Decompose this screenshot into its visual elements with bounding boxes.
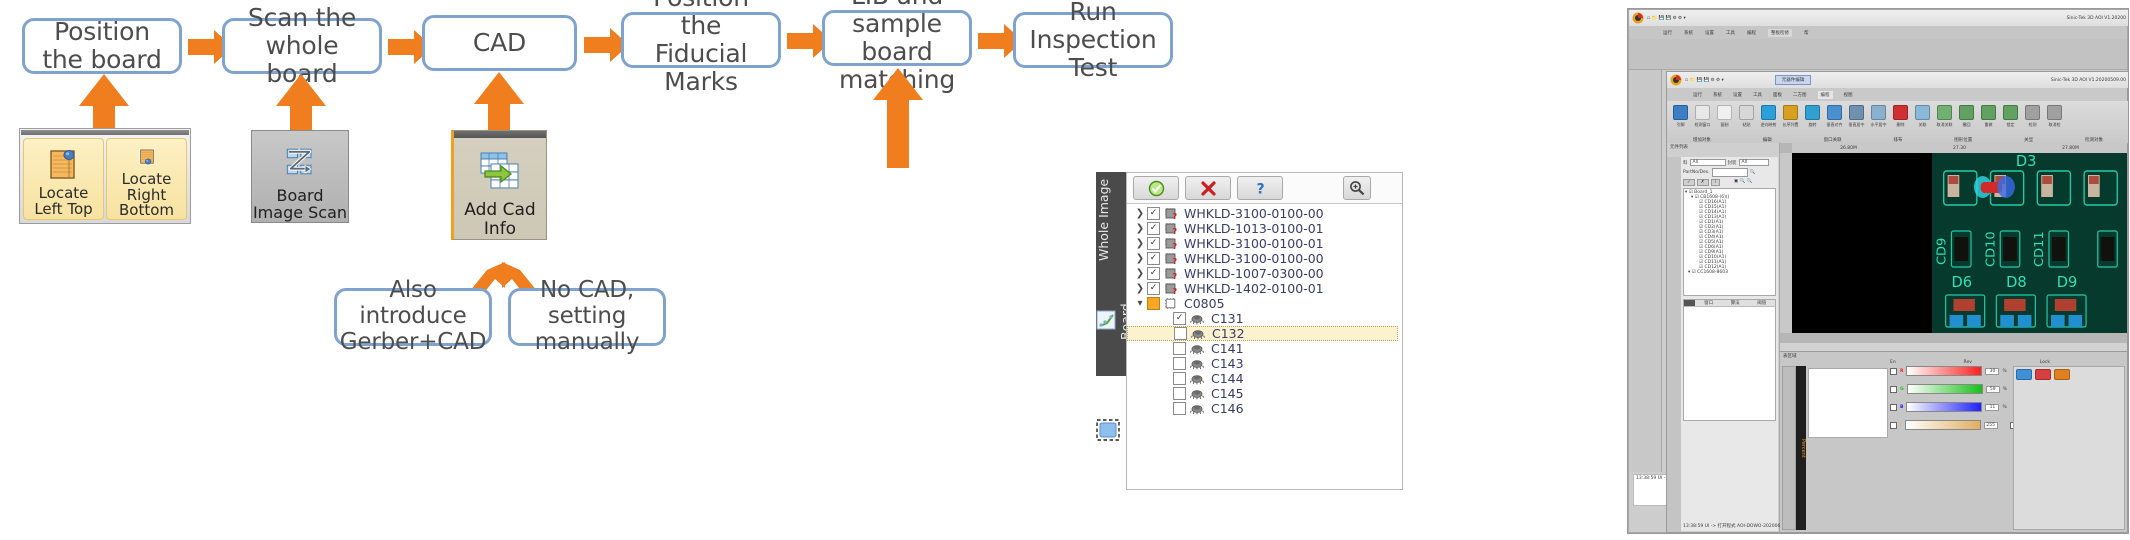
app-logo-icon bbox=[1670, 74, 1682, 86]
ribbon-button[interactable]: 关联 bbox=[1912, 103, 1933, 128]
ribbon-button-label: 引脚 bbox=[1677, 122, 1685, 128]
chip-question-icon: ? bbox=[1164, 237, 1180, 250]
tree-row-checkbox[interactable] bbox=[1173, 402, 1186, 415]
tree-row-checkbox[interactable]: ✓ bbox=[1147, 237, 1160, 250]
channel-name: G bbox=[1900, 387, 1904, 392]
pcb-label: D3 bbox=[2016, 153, 2037, 170]
channel-enable-checkbox[interactable] bbox=[1890, 368, 1897, 375]
button-locate-right-bottom[interactable]: Locate Right Bottom bbox=[106, 138, 187, 220]
ribbon-button[interactable]: 取消关联 bbox=[1934, 103, 1955, 128]
menu-item[interactable]: 系统 bbox=[1684, 30, 1693, 36]
ribbon-button-label: 垂直居中 bbox=[1849, 122, 1865, 128]
menu-item[interactable]: 帮 bbox=[1804, 30, 1809, 36]
component-icon bbox=[1190, 313, 1207, 325]
flow-step-label: CAD bbox=[473, 29, 526, 57]
channel-slider[interactable] bbox=[1906, 402, 1982, 412]
flow-step-fiducial[interactable]: Position the Fiducial Marks bbox=[621, 12, 781, 68]
channel-value[interactable]: 30 bbox=[1985, 368, 1999, 375]
ribbon-button[interactable]: 长序列置 bbox=[1780, 103, 1801, 128]
ribbon-button[interactable]: 粘贴 bbox=[1736, 103, 1757, 128]
table-import-icon bbox=[477, 148, 523, 194]
ribbon-button-icon bbox=[1761, 105, 1776, 120]
front-window[interactable]: ▫ 📁 💾 💾 ⚙ ⚙ ▾ 元器件编辑 Sinic-Tek 3D AOI V1.… bbox=[1666, 71, 2128, 533]
tree-row-checkbox[interactable] bbox=[1173, 387, 1186, 400]
chip-question-icon: ? bbox=[1164, 282, 1180, 295]
channel-panel: 表区域 Percent R30%G59%B11%I255 En Rev Lock bbox=[1780, 351, 2127, 532]
ribbon-button-label: 检测 bbox=[2029, 122, 2037, 128]
chip-question-icon: ? bbox=[1164, 207, 1177, 220]
tree-row[interactable]: C143 bbox=[1127, 356, 1402, 371]
tree-row[interactable]: C132 bbox=[1127, 326, 1398, 341]
tree-row-checkbox[interactable]: ✓ bbox=[1147, 207, 1160, 220]
pcb-graphics: D3 CD9 CD10 CD11 D6 D8 bbox=[1932, 153, 2127, 333]
chip-question-icon: ? bbox=[1164, 252, 1180, 265]
flow-step-position-board[interactable]: Position the board bbox=[22, 18, 182, 74]
tree-row[interactable]: ✓ C131 bbox=[1127, 311, 1402, 326]
ribbon-button[interactable]: 旋转 bbox=[1802, 103, 1823, 128]
svg-text:D6: D6 bbox=[1952, 274, 1973, 291]
plot-area bbox=[1808, 368, 1888, 438]
ribbon-button-label: 重做 bbox=[1985, 122, 1993, 128]
tab-whole-image[interactable]: Whole Image bbox=[1096, 172, 1111, 268]
component-icon bbox=[1190, 358, 1207, 370]
component-icon bbox=[1191, 328, 1208, 340]
ribbon-button-icon bbox=[2003, 105, 2018, 120]
tree-toolbar: ? bbox=[1127, 173, 1402, 204]
left-table[interactable]: 窗口 算法 阈值 bbox=[1683, 299, 1776, 421]
ribbon-button[interactable]: 取消检 bbox=[2044, 103, 2065, 128]
tree-row[interactable]: ❯✓ ?WHKLD-3100-0100-00 bbox=[1127, 206, 1402, 221]
menu-item[interactable]: 运行 bbox=[1663, 30, 1672, 36]
selection-box-icon bbox=[1096, 420, 1120, 442]
ribbon-button-icon bbox=[2047, 105, 2062, 120]
tree-vertical-tabs: Whole Image Board Component bbox=[1096, 172, 1126, 490]
chevron-right-icon[interactable]: ❯ bbox=[1133, 283, 1147, 294]
chevron-down-icon[interactable]: ▾ bbox=[1133, 298, 1147, 309]
tree-row-checkbox[interactable]: ✓ bbox=[1147, 282, 1160, 295]
tree-row-label: WHKLD-3100-0100-01 bbox=[1184, 236, 1324, 251]
ribbon-button[interactable]: 检测 bbox=[2022, 103, 2043, 128]
tree-row-checkbox[interactable]: ✓ bbox=[1147, 222, 1160, 235]
button-board-image-scan[interactable]: Board Image Scan bbox=[251, 130, 349, 223]
tab-label: Whole Image bbox=[1096, 179, 1111, 261]
ribbon-button-label: 复制 bbox=[1721, 122, 1729, 128]
tree-row-label: C0805 bbox=[1184, 296, 1225, 311]
ribbon-button[interactable]: 逆向映射 bbox=[1758, 103, 1779, 128]
flow-step-label: Position the board bbox=[42, 18, 161, 74]
svg-text:CD10: CD10 bbox=[1984, 231, 1999, 267]
front-window-ribbon: 引脚检测窗口复制粘贴逆向映射长序列置旋转垂直对齐垂直居中水平居中删除关联取消关联… bbox=[1667, 101, 2129, 144]
channel-enable-checkbox[interactable] bbox=[1890, 404, 1897, 411]
svg-text:CD11: CD11 bbox=[2032, 231, 2047, 267]
front-left-panel: 元件列表 料 All 封装 All PartNo/Des. 🔍 ✓ ✗ i bbox=[1667, 143, 1780, 532]
magnifier-plus-icon bbox=[1349, 180, 1365, 196]
ribbon-button-icon bbox=[1827, 105, 1842, 120]
flow-step-scan-board[interactable]: Scan the whole board bbox=[222, 18, 382, 74]
chip-question-icon: ? bbox=[1164, 267, 1180, 280]
back-window-menubar[interactable]: 运行 系统 设置 工具 编程 整板检修 帮 bbox=[1629, 26, 2127, 39]
ribbon-button-icon bbox=[1981, 105, 1996, 120]
ruler-tick: 27.80M bbox=[2062, 146, 2079, 151]
tree-row-checkbox[interactable]: ✓ bbox=[1147, 252, 1160, 265]
partno-input[interactable] bbox=[1712, 168, 1748, 177]
front-window-titlebar: ▫ 📁 💾 💾 ⚙ ⚙ ▾ 元器件编辑 Sinic-Tek 3D AOI V1.… bbox=[1667, 72, 2129, 88]
channel-slider[interactable] bbox=[1906, 366, 1982, 376]
image-viewport[interactable]: 26.80M 27.30 27.80M bbox=[1780, 143, 2127, 343]
svg-text:D9: D9 bbox=[2057, 274, 2078, 291]
ribbon-button-label: 检测窗口 bbox=[1695, 122, 1711, 128]
ribbon-button[interactable]: 引脚 bbox=[1670, 103, 1691, 128]
filter-label: 料 bbox=[1683, 160, 1688, 166]
channel-unit: % bbox=[2002, 405, 2006, 410]
chip-outline-icon bbox=[1164, 297, 1177, 310]
tool-red-button[interactable] bbox=[2035, 369, 2051, 380]
svg-text:?: ? bbox=[1173, 212, 1178, 220]
ribbon-button-icon bbox=[1673, 105, 1688, 120]
tree-info-icon[interactable]: i bbox=[1711, 179, 1720, 186]
svg-text:?: ? bbox=[1173, 257, 1178, 265]
blue-question-icon: ? bbox=[1252, 180, 1269, 197]
button-label: Board Image Scan bbox=[253, 187, 347, 222]
ribbon-button-label: 逆向映射 bbox=[1761, 122, 1777, 128]
channel-value[interactable]: 11 bbox=[1985, 404, 1999, 411]
tree-row[interactable]: ❯✓ ?WHKLD-3100-0100-00 bbox=[1127, 251, 1402, 266]
back-window-ribbon bbox=[1629, 39, 2127, 70]
red-x-icon bbox=[1200, 180, 1217, 197]
note-gerber-cad[interactable]: Also introduce Gerber+CAD bbox=[334, 288, 492, 346]
tree-row-checkbox[interactable]: ✓ bbox=[1173, 312, 1186, 325]
channel-header: En bbox=[1890, 360, 1896, 365]
tree-row-checkbox[interactable] bbox=[1173, 357, 1186, 370]
component-tree-rows: ❯✓ ?WHKLD-3100-0100-00❯✓ ?WHKLD-1013-010… bbox=[1127, 204, 1402, 416]
channel-slider[interactable] bbox=[1907, 384, 1983, 394]
menu-item[interactable]: 面板 bbox=[1773, 92, 1782, 98]
tree-row[interactable]: ❯✓ ?WHKLD-3100-0100-01 bbox=[1127, 236, 1402, 251]
component-icon bbox=[1191, 328, 1205, 340]
filter-label: 封装 bbox=[1728, 160, 1737, 166]
reject-button[interactable] bbox=[1185, 176, 1231, 200]
menu-item-active[interactable]: 整板检修 bbox=[1768, 29, 1792, 37]
help-button[interactable]: ? bbox=[1237, 176, 1283, 200]
tool-blue-button[interactable] bbox=[2016, 369, 2032, 380]
percent-label: Percent bbox=[1800, 439, 1806, 458]
chevron-right-icon[interactable]: ❯ bbox=[1133, 253, 1147, 264]
chevron-right-icon[interactable]: ❯ bbox=[1133, 238, 1147, 249]
component-icon bbox=[1190, 343, 1204, 355]
table-header: 窗口 bbox=[1695, 300, 1722, 306]
ribbon-button-label: 取消检 bbox=[2049, 122, 2061, 128]
tree-row-label: WHKLD-1007-0300-00 bbox=[1184, 266, 1324, 281]
component-icon bbox=[1190, 343, 1207, 355]
button-label: Add Cad Info bbox=[464, 201, 535, 239]
green-check-circle-icon bbox=[1148, 180, 1165, 197]
ribbon-button-label: 长序列置 bbox=[1783, 122, 1799, 128]
ribbon-button-label: 水平居中 bbox=[1871, 122, 1887, 128]
back-window-left-dock bbox=[1629, 70, 1662, 472]
ribbon-button[interactable]: 复制 bbox=[1714, 103, 1735, 128]
chip-question-icon: ? bbox=[1164, 252, 1177, 265]
svg-text:?: ? bbox=[1173, 287, 1178, 295]
ribbon-button-label: 撤回 bbox=[1963, 122, 1971, 128]
ribbon-button[interactable]: 垂直居中 bbox=[1846, 103, 1867, 128]
note-no-cad[interactable]: No CAD, setting manually bbox=[508, 288, 666, 346]
ribbon-button-label: 关联 bbox=[1919, 122, 1927, 128]
flow-step-lib-match[interactable]: LIB and sample board matching bbox=[822, 10, 972, 66]
ribbon-button-row: 引脚检测窗口复制粘贴逆向映射长序列置旋转垂直对齐垂直居中水平居中删除关联取消关联… bbox=[1667, 101, 2129, 130]
ribbon-button-icon bbox=[1849, 105, 1864, 120]
note-label: Also introduce Gerber+CAD bbox=[340, 278, 486, 355]
tree-row-label: C144 bbox=[1211, 371, 1244, 386]
menu-item[interactable]: 编程 bbox=[1747, 30, 1756, 36]
tree-row[interactable]: ❯✓ ?WHKLD-1007-0300-00 bbox=[1127, 266, 1402, 281]
component-icon bbox=[1190, 388, 1207, 400]
tree-row-checkbox[interactable] bbox=[1174, 327, 1187, 340]
tree-row-label: WHKLD-3100-0100-00 bbox=[1184, 206, 1324, 221]
ribbon-button-label: 锁定 bbox=[2007, 122, 2015, 128]
tree-item-list: ☑ CD16(A1)☑ CD15(A1)☑ CD14(A1)☑ CD13(A1)… bbox=[1685, 200, 1774, 270]
chevron-right-icon[interactable]: ❯ bbox=[1133, 268, 1147, 279]
ribbon-button-icon bbox=[2025, 105, 2040, 120]
channel-slider[interactable] bbox=[1905, 420, 1981, 430]
ribbon-top-bar bbox=[454, 131, 546, 138]
menu-item-active[interactable]: 编程 bbox=[1818, 91, 1833, 99]
menu-item[interactable]: 二方图 bbox=[1793, 92, 1807, 98]
tree-row-label: C146 bbox=[1211, 401, 1244, 416]
status-log: 13:38:59 UI -> 打开程式 AOI-DOWO-20200618 bbox=[1683, 523, 1786, 529]
menu-item[interactable]: 系统 bbox=[1713, 92, 1722, 98]
button-locate-left-top[interactable]: Locate Left Top bbox=[23, 138, 104, 220]
aoi-application-screenshot[interactable]: ▫ 📁 💾 💾 ⚙ ⚙ ▾ Sinic-Tek 3D AOI V1.20200 … bbox=[1627, 8, 2129, 534]
channel-header: Lock bbox=[2040, 360, 2050, 365]
left-tree-toolbar: ✓ ✗ i ▣ 🔍 🔍 bbox=[1681, 179, 1778, 188]
ribbon-button-icon bbox=[1871, 105, 1886, 120]
ribbon-button[interactable]: 重做 bbox=[1978, 103, 1999, 128]
svg-text:CD9: CD9 bbox=[1935, 238, 1950, 265]
menu-item[interactable]: 设置 bbox=[1733, 92, 1742, 98]
tree-row-label: C143 bbox=[1211, 356, 1244, 371]
tree-row[interactable]: C141 bbox=[1127, 341, 1402, 356]
left-panel-title: 元件列表 bbox=[1667, 143, 1779, 151]
chip-question-icon: ? bbox=[1164, 207, 1180, 220]
tree-row[interactable]: C144 bbox=[1127, 371, 1402, 386]
ribbon-button[interactable]: 垂直对齐 bbox=[1824, 103, 1845, 128]
filter-select-1[interactable]: All bbox=[1690, 159, 1726, 166]
component-icon bbox=[1190, 403, 1204, 415]
ribbon-button-label: 删除 bbox=[1897, 122, 1905, 128]
chevron-right-icon[interactable]: ❯ bbox=[1133, 208, 1147, 219]
tree-row-label: WHKLD-1013-0100-01 bbox=[1184, 221, 1324, 236]
note-label: No CAD, setting manually bbox=[517, 278, 657, 355]
tree-row[interactable]: ❯✓ ?WHKLD-1402-0100-01 bbox=[1127, 281, 1402, 296]
component-icon bbox=[1190, 373, 1204, 385]
channel-vtabs[interactable] bbox=[1782, 366, 1796, 530]
chip-question-icon: ? bbox=[1164, 222, 1177, 235]
channel-unit: % bbox=[2003, 387, 2007, 392]
left-panel-body: 料 All 封装 All PartNo/Des. 🔍 ✓ ✗ i ▣ 🔍 🔍 bbox=[1681, 157, 1778, 531]
ribbon-button-icon bbox=[1783, 105, 1798, 120]
table-header-corner bbox=[1684, 300, 1695, 306]
tree-row-label: WHKLD-1402-0100-01 bbox=[1184, 281, 1324, 296]
button-label: Locate Right Bottom bbox=[107, 172, 186, 219]
menu-item[interactable]: 运行 bbox=[1693, 92, 1702, 98]
table-header: 算法 bbox=[1722, 300, 1749, 306]
ribbon-button-icon bbox=[1717, 105, 1732, 120]
tree-group2[interactable]: ▾ ☑ CC1608-8603 bbox=[1685, 270, 1774, 275]
channel-value[interactable]: 59 bbox=[1986, 386, 2000, 393]
tree-row-label: WHKLD-3100-0100-00 bbox=[1184, 251, 1324, 266]
left-tree[interactable]: ▾ ☑ Board_1 ▾ ☑ CB1608-(6)() ☑ CD16(A1)☑… bbox=[1683, 188, 1776, 296]
tree-row-checkbox[interactable]: ✓ bbox=[1147, 267, 1160, 280]
ribbon-button-label: 旋转 bbox=[1809, 122, 1817, 128]
channel-enable-checkbox[interactable] bbox=[1890, 422, 1897, 429]
menu-item[interactable]: 工具 bbox=[1753, 92, 1762, 98]
chip-question-icon: ? bbox=[1164, 237, 1177, 250]
ruler-tick: 27.30 bbox=[1953, 146, 1966, 151]
ribbon-button-label: 垂直对齐 bbox=[1827, 122, 1843, 128]
component-icon bbox=[1190, 313, 1204, 325]
button-add-cad-info[interactable]: Add Cad Info bbox=[451, 130, 547, 240]
viewport-black-region bbox=[1792, 153, 1932, 333]
ribbon-button-label: 粘贴 bbox=[1743, 122, 1751, 128]
tree-row-label: C141 bbox=[1211, 341, 1244, 356]
ribbon-button-icon bbox=[1937, 105, 1952, 120]
channel-value[interactable]: 255 bbox=[1984, 422, 1998, 429]
chip-outline-icon bbox=[1164, 297, 1180, 310]
ribbon-locate-panel: Locate Left Top Locate Right Bottom bbox=[19, 128, 191, 224]
back-window-titlebar: ▫ 📁 💾 💾 ⚙ ⚙ ▾ Sinic-Tek 3D AOI V1.20200 bbox=[1629, 10, 2129, 26]
partno-label: PartNo/Des. bbox=[1683, 170, 1710, 175]
up-arrow-lib-match bbox=[872, 68, 924, 168]
svg-text:?: ? bbox=[1173, 227, 1178, 235]
ribbon-button-icon bbox=[1739, 105, 1754, 120]
tree-row[interactable]: ▾ C0805 bbox=[1127, 296, 1402, 311]
tool-orange-button[interactable] bbox=[2054, 369, 2070, 380]
chip-question-icon: ? bbox=[1164, 267, 1177, 280]
channel-header: Rev bbox=[1964, 360, 1972, 365]
filter-select-2[interactable]: All bbox=[1739, 159, 1769, 166]
component-icon bbox=[1190, 358, 1204, 370]
table-header: 阈值 bbox=[1748, 300, 1775, 306]
svg-text:?: ? bbox=[1173, 272, 1178, 280]
ribbon-button-icon bbox=[1893, 105, 1908, 120]
channel-name: I bbox=[1900, 423, 1902, 428]
flow-step-label: Position the Fiducial Marks bbox=[630, 0, 772, 96]
component-tree-panel: ? ❯✓ ?WHKLD-3100-0100-00❯✓ ?WHKLD-1013-0… bbox=[1126, 172, 1403, 490]
component-icon bbox=[1190, 388, 1204, 400]
accept-button[interactable] bbox=[1133, 176, 1179, 200]
app-logo-icon bbox=[1632, 12, 1644, 24]
front-window-title: Sinic-Tek 3D AOI V1.20200509.00 bbox=[2051, 78, 2126, 83]
tree-row-label: C131 bbox=[1211, 311, 1244, 326]
back-window-title: Sinic-Tek 3D AOI V1.20200 bbox=[2067, 16, 2126, 21]
ribbon-button[interactable]: 检测窗口 bbox=[1692, 103, 1713, 128]
component-icon bbox=[1190, 403, 1207, 415]
right-tool-strip[interactable] bbox=[2013, 366, 2125, 530]
channel-name: B bbox=[1900, 405, 1903, 410]
button-label: Locate Left Top bbox=[34, 186, 92, 218]
tree-row-label: C132 bbox=[1212, 326, 1245, 341]
ribbon-button-icon bbox=[1695, 105, 1710, 120]
tree-extra-icons[interactable]: ▣ 🔍 🔍 bbox=[1734, 179, 1752, 186]
svg-text:?: ? bbox=[1256, 181, 1264, 197]
ruler-tick: 26.80M bbox=[1840, 146, 1857, 151]
svg-text:?: ? bbox=[1173, 242, 1178, 250]
channel-panel-title: 表区域 bbox=[1780, 352, 2127, 360]
front-window-toolbar-icons: ▫ 📁 💾 💾 ⚙ ⚙ ▾ bbox=[1685, 78, 1724, 83]
chip-question-icon: ? bbox=[1164, 282, 1177, 295]
scatter-check-icon bbox=[1096, 310, 1116, 330]
zoom-button[interactable] bbox=[1343, 176, 1371, 200]
ribbon-button-label: 取消关联 bbox=[1937, 122, 1953, 128]
chevron-right-icon[interactable]: ❯ bbox=[1133, 223, 1147, 234]
channel-header-row: En Rev Lock bbox=[1890, 360, 2050, 365]
channel-name: R bbox=[1900, 369, 1903, 374]
flow-step-run-test[interactable]: Run Inspection Test bbox=[1013, 12, 1173, 68]
menu-item[interactable]: 视图 bbox=[1844, 92, 1853, 98]
tree-reject-icon[interactable]: ✗ bbox=[1697, 179, 1709, 186]
ribbon-button-icon bbox=[1805, 105, 1820, 120]
tree-accept-icon[interactable]: ✓ bbox=[1683, 179, 1695, 186]
left-vtab-strip[interactable] bbox=[1667, 157, 1681, 532]
ribbon-button[interactable]: 撤回 bbox=[1956, 103, 1977, 128]
pcb-image: D3 CD9 CD10 CD11 D6 D8 bbox=[1932, 153, 2127, 333]
tree-row[interactable]: C146 bbox=[1127, 401, 1402, 416]
note-pin-icon bbox=[47, 147, 81, 181]
channel-enable-checkbox[interactable] bbox=[1890, 386, 1897, 393]
ribbon-button-icon bbox=[1915, 105, 1930, 120]
zigzag-scan-icon bbox=[280, 145, 320, 179]
tree-row-checkbox[interactable] bbox=[1173, 372, 1186, 385]
front-window-menubar[interactable]: 运行 系统 设置 工具 面板 二方图 编程 视图 bbox=[1667, 88, 2127, 101]
flow-step-label: Run Inspection Test bbox=[1022, 0, 1164, 82]
front-window-active-tab[interactable]: 元器件编辑 bbox=[1775, 75, 1812, 85]
ribbon-button[interactable]: 删除 bbox=[1890, 103, 1911, 128]
note-pin-icon bbox=[130, 147, 164, 167]
component-icon bbox=[1190, 373, 1207, 385]
tree-row[interactable]: C145 bbox=[1127, 386, 1402, 401]
tree-row[interactable]: ❯✓ ?WHKLD-1013-0100-01 bbox=[1127, 221, 1402, 236]
tree-row-label: C145 bbox=[1211, 386, 1244, 401]
tree-row-checkbox[interactable] bbox=[1147, 297, 1160, 310]
back-window-toolbar-icons: ▫ 📁 💾 💾 ⚙ ⚙ ▾ bbox=[1647, 16, 1686, 21]
ribbon-button[interactable]: 锁定 bbox=[2000, 103, 2021, 128]
flow-step-cad[interactable]: CAD bbox=[422, 15, 577, 71]
svg-text:D8: D8 bbox=[2006, 274, 2027, 291]
chip-question-icon: ? bbox=[1164, 222, 1180, 235]
percent-strip: Percent bbox=[1796, 366, 1806, 530]
ribbon-button[interactable]: 水平居中 bbox=[1868, 103, 1889, 128]
tree-row-checkbox[interactable] bbox=[1173, 342, 1186, 355]
menu-item[interactable]: 工具 bbox=[1726, 30, 1735, 36]
partno-search-icon[interactable]: 🔍 bbox=[1750, 170, 1756, 175]
channel-unit: % bbox=[2002, 369, 2006, 374]
ribbon-button-icon bbox=[1959, 105, 1974, 120]
menu-item[interactable]: 设置 bbox=[1705, 30, 1714, 36]
